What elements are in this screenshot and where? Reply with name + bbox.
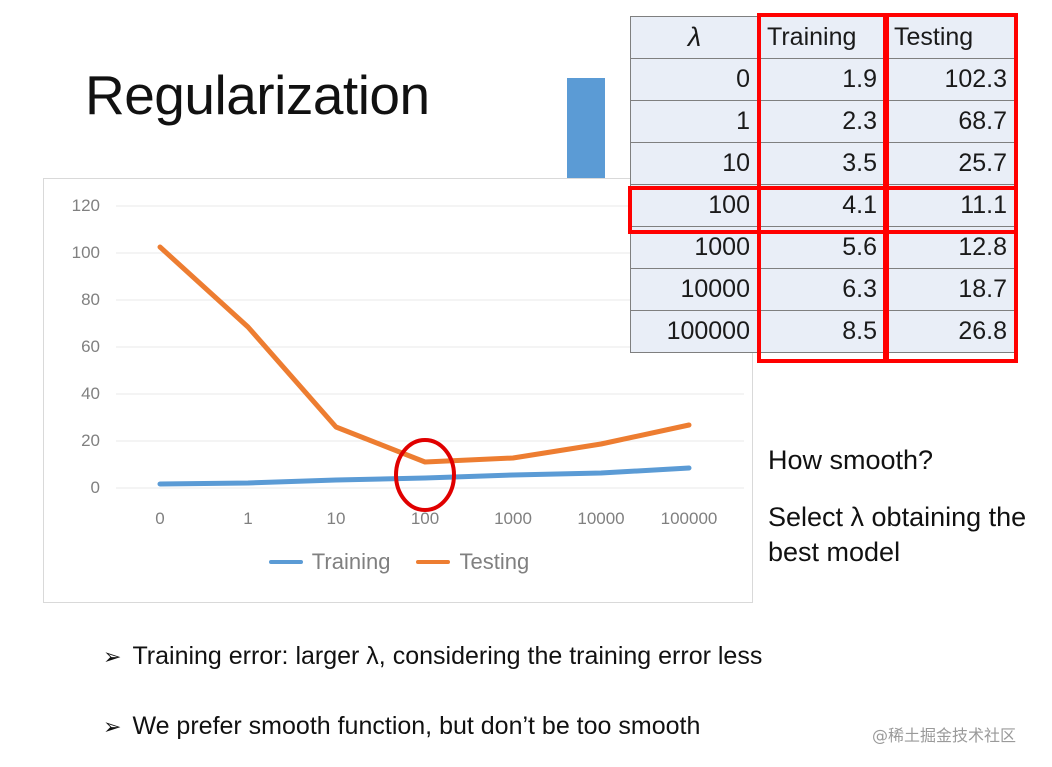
table-row: 10000 6.3 18.7 [631,269,1016,311]
page-title: Regularization [85,68,430,123]
x-axis-tick: 100000 [661,509,718,529]
cell-training: 3.5 [759,143,886,185]
table-row: 0 1.9 102.3 [631,59,1016,101]
x-axis-tick: 1 [243,509,252,529]
series-line-training [160,468,689,484]
bullet-text: Training error: larger λ, considering th… [132,642,762,671]
legend-item-testing: Testing [416,549,529,575]
x-axis-tick: 100 [411,509,439,529]
cell-lambda: 100 [631,185,759,227]
cell-lambda: 10000 [631,269,759,311]
cell-testing: 26.8 [886,311,1016,353]
cell-training: 2.3 [759,101,886,143]
cell-training: 5.6 [759,227,886,269]
bullet-marker-icon: ➢ [103,714,121,740]
table-row: 10 3.5 25.7 [631,143,1016,185]
cell-training: 1.9 [759,59,886,101]
bullet-text: We prefer smooth function, but don’t be … [132,712,700,741]
series-line-testing [160,247,689,462]
legend-label-testing: Testing [459,549,529,575]
table-row: 1000 5.6 12.8 [631,227,1016,269]
chart-legend: Training Testing [44,549,754,575]
cell-lambda: 1 [631,101,759,143]
x-axis-tick: 10000 [577,509,624,529]
y-axis-tick: 100 [54,243,100,263]
cell-lambda: 100000 [631,311,759,353]
cell-testing: 25.7 [886,143,1016,185]
y-axis-tick: 20 [54,431,100,451]
table-row: 1 2.3 68.7 [631,101,1016,143]
column-header-testing: Testing [886,17,1016,59]
cell-training: 4.1 [759,185,886,227]
table-row-highlighted: 100 4.1 11.1 [631,185,1016,227]
cell-testing: 12.8 [886,227,1016,269]
column-header-training: Training [759,17,886,59]
y-axis-tick: 120 [54,196,100,216]
bullet-item-smooth-function: ➢ We prefer smooth function, but don’t b… [103,712,700,741]
watermark: @稀土掘金技术社区 [872,722,1016,746]
bullet-item-training-error: ➢ Training error: larger λ, considering … [103,642,762,671]
table-header-row: λ Training Testing [631,17,1016,59]
legend-swatch-testing [416,560,450,564]
x-axis-tick: 10 [327,509,346,529]
y-axis-tick: 60 [54,337,100,357]
note-select-lambda: Select λ obtaining the best model [768,500,1043,569]
cell-testing: 18.7 [886,269,1016,311]
note-how-smooth: How smooth? [768,445,933,476]
y-axis-tick: 0 [54,478,100,498]
y-axis-tick: 40 [54,384,100,404]
cell-testing: 68.7 [886,101,1016,143]
table-row: 100000 8.5 26.8 [631,311,1016,353]
legend-swatch-training [269,560,303,564]
lambda-error-table: λ Training Testing 0 1.9 102.3 1 2.3 68.… [630,16,1016,353]
cell-lambda: 1000 [631,227,759,269]
cell-training: 8.5 [759,311,886,353]
cell-training: 6.3 [759,269,886,311]
legend-label-training: Training [312,549,391,575]
bullet-marker-icon: ➢ [103,644,121,670]
cell-testing: 102.3 [886,59,1016,101]
x-axis-tick: 0 [155,509,164,529]
cell-testing: 11.1 [886,185,1016,227]
slide-canvas: Regularization smoother 1 [0,0,1052,767]
y-axis-tick: 80 [54,290,100,310]
column-header-lambda: λ [631,17,759,59]
cell-lambda: 0 [631,59,759,101]
cell-lambda: 10 [631,143,759,185]
legend-item-training: Training [269,549,391,575]
x-axis-tick: 1000 [494,509,532,529]
